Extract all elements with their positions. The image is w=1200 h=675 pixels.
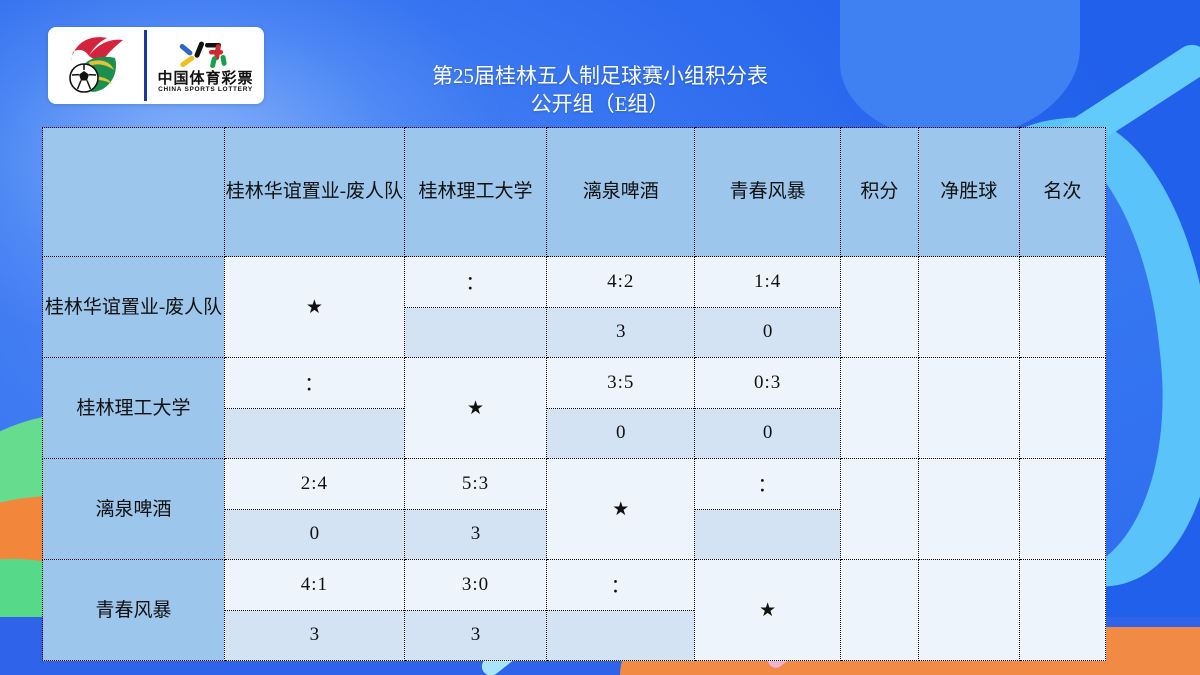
self-marker-star-icon: ★ bbox=[547, 459, 695, 560]
table-head: 桂林华谊置业-废人队 桂林理工大学 漓泉啤酒 青春风暴 积分 净胜球 名次 bbox=[43, 128, 1106, 257]
match-points bbox=[225, 409, 404, 459]
title-line-2: 公开组（E组） bbox=[0, 90, 1200, 118]
match-score: 1:4 bbox=[695, 257, 840, 308]
row-team-name: 桂林理工大学 bbox=[43, 358, 225, 459]
match-result-cell: ： bbox=[695, 459, 841, 560]
row-goal-difference bbox=[918, 257, 1019, 358]
header-points: 积分 bbox=[841, 128, 919, 257]
match-points: 3 bbox=[547, 308, 694, 358]
self-marker-star-icon: ★ bbox=[695, 560, 841, 661]
table-header-row: 桂林华谊置业-废人队 桂林理工大学 漓泉啤酒 青春风暴 积分 净胜球 名次 bbox=[43, 128, 1106, 257]
table-row: 桂林华谊置业-废人队★：4:231:40 bbox=[43, 257, 1106, 358]
row-points-total bbox=[841, 560, 919, 661]
match-points: 0 bbox=[547, 409, 694, 459]
match-points bbox=[405, 308, 547, 358]
match-points: 0 bbox=[225, 510, 404, 560]
match-result-cell: ： bbox=[224, 358, 404, 459]
match-points: 0 bbox=[695, 409, 840, 459]
row-rank bbox=[1019, 459, 1105, 560]
match-points bbox=[547, 611, 694, 661]
self-marker-star-icon: ★ bbox=[404, 358, 547, 459]
match-result-cell: 0:30 bbox=[695, 358, 841, 459]
row-goal-difference bbox=[918, 459, 1019, 560]
row-rank bbox=[1019, 257, 1105, 358]
match-score: ： bbox=[405, 257, 547, 308]
row-rank bbox=[1019, 358, 1105, 459]
header-team-3: 漓泉啤酒 bbox=[547, 128, 695, 257]
header-team-4: 青春风暴 bbox=[695, 128, 841, 257]
match-result-cell: 1:40 bbox=[695, 257, 841, 358]
self-marker-star-icon: ★ bbox=[224, 257, 404, 358]
header-goal-difference: 净胜球 bbox=[918, 128, 1019, 257]
header-rank: 名次 bbox=[1019, 128, 1105, 257]
row-team-name: 漓泉啤酒 bbox=[43, 459, 225, 560]
match-score: ： bbox=[225, 358, 404, 409]
page-title: 第25届桂林五人制足球赛小组积分表 公开组（E组） bbox=[0, 62, 1200, 118]
match-result-cell: ： bbox=[547, 560, 695, 661]
title-line-1: 第25届桂林五人制足球赛小组积分表 bbox=[0, 62, 1200, 90]
match-points: 3 bbox=[405, 611, 547, 661]
header-corner bbox=[43, 128, 225, 257]
row-rank bbox=[1019, 560, 1105, 661]
match-score: ： bbox=[695, 459, 840, 510]
row-goal-difference bbox=[918, 358, 1019, 459]
match-points: 3 bbox=[225, 611, 404, 661]
row-team-name: 桂林华谊置业-废人队 bbox=[43, 257, 225, 358]
match-result-cell: 3:50 bbox=[547, 358, 695, 459]
row-points-total bbox=[841, 257, 919, 358]
match-points: 0 bbox=[695, 308, 840, 358]
match-score: 0:3 bbox=[695, 358, 840, 409]
match-points: 3 bbox=[405, 510, 547, 560]
row-points-total bbox=[841, 459, 919, 560]
table-row: 桂林理工大学：★3:500:30 bbox=[43, 358, 1106, 459]
match-score: 5:3 bbox=[405, 459, 547, 510]
match-score: 2:4 bbox=[225, 459, 404, 510]
match-score: 4:2 bbox=[547, 257, 694, 308]
table-row: 青春风暴4:133:03：★ bbox=[43, 560, 1106, 661]
row-goal-difference bbox=[918, 560, 1019, 661]
match-result-cell: 2:40 bbox=[224, 459, 404, 560]
row-team-name: 青春风暴 bbox=[43, 560, 225, 661]
standings-table-wrapper: 桂林华谊置业-废人队 桂林理工大学 漓泉啤酒 青春风暴 积分 净胜球 名次 桂林… bbox=[42, 127, 1106, 661]
match-result-cell: 4:13 bbox=[224, 560, 404, 661]
match-result-cell: 4:23 bbox=[547, 257, 695, 358]
standings-table: 桂林华谊置业-废人队 桂林理工大学 漓泉啤酒 青春风暴 积分 净胜球 名次 桂林… bbox=[42, 127, 1106, 661]
match-result-cell: 5:33 bbox=[404, 459, 547, 560]
match-points bbox=[695, 510, 840, 560]
table-body: 桂林华谊置业-废人队★：4:231:40桂林理工大学：★3:500:30漓泉啤酒… bbox=[43, 257, 1106, 661]
match-result-cell: ： bbox=[404, 257, 547, 358]
row-points-total bbox=[841, 358, 919, 459]
match-score: 3:5 bbox=[547, 358, 694, 409]
match-score: 4:1 bbox=[225, 560, 404, 611]
header-team-2: 桂林理工大学 bbox=[404, 128, 547, 257]
match-score: ： bbox=[547, 560, 694, 611]
match-score: 3:0 bbox=[405, 560, 547, 611]
header-team-1: 桂林华谊置业-废人队 bbox=[224, 128, 404, 257]
match-result-cell: 3:03 bbox=[404, 560, 547, 661]
table-row: 漓泉啤酒2:405:33★： bbox=[43, 459, 1106, 560]
